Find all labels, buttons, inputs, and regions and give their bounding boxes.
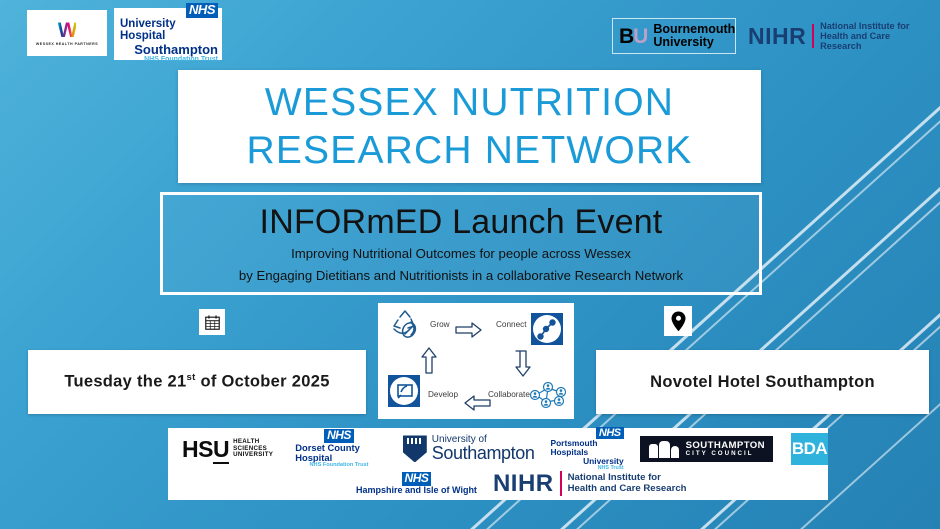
- hsu-wordmark: HEALTH SCIENCES UNIVERSITY: [233, 439, 273, 459]
- event-date-text: Tuesday the 21st of October 2025: [64, 372, 329, 392]
- southampton-shield-icon: [403, 435, 427, 462]
- event-venue-card: Novotel Hotel Southampton: [596, 350, 929, 414]
- logo-southampton-city-council: SOUTHAMPTON CITY COUNCIL: [640, 436, 773, 462]
- uhs-line2: Southampton: [134, 43, 218, 57]
- event-date-card: Tuesday the 21st of October 2025: [28, 350, 366, 414]
- nihr-divider-icon: [812, 24, 814, 48]
- title-line-2: RESEARCH NETWORK: [246, 127, 692, 175]
- map-pin-icon: [664, 306, 692, 336]
- uhs-line3: NHS Foundation Trust: [144, 56, 218, 64]
- nihr-line1: National Institute for: [568, 473, 687, 484]
- cycle-diagram-graphics: [378, 303, 574, 419]
- nhs-badge: NHS: [596, 427, 624, 440]
- event-poster: W WESSEX HEALTH PARTNERS NHS University …: [0, 0, 940, 529]
- nihr-line2: Health and Care Research: [568, 484, 687, 495]
- logo-nhs-hampshire-isle-of-wight: NHS Hampshire and Isle of Wight: [356, 472, 477, 495]
- event-tagline-line2: by Engaging Dietitians and Nutritionists…: [239, 266, 683, 285]
- nihr-subtitle: National Institute for Health and Care R…: [820, 21, 928, 52]
- cycle-label-collaborate: Collaborate: [488, 390, 530, 399]
- whp-caption: WESSEX HEALTH PARTNERS: [36, 42, 98, 46]
- page-title: WESSEX NUTRITION RESEARCH NETWORK: [178, 70, 761, 183]
- nhs-badge: NHS: [324, 429, 354, 443]
- city-crest-icon: [648, 440, 680, 458]
- uos-wordmark: University of Southampton: [432, 435, 535, 462]
- logo-bournemouth-university: BU Bournemouth University: [612, 18, 736, 54]
- bu-line2: University: [653, 36, 735, 49]
- cycle-diagram: Grow Connect Collaborate Develop: [378, 303, 574, 419]
- bda-mark: BDA: [792, 439, 827, 459]
- hsu-line3: UNIVERSITY: [233, 452, 273, 459]
- partner-logo-row-2: NHS Hampshire and Isle of Wight NIHR Nat…: [168, 468, 828, 499]
- logo-nihr-header: NIHR National Institute for Health and C…: [748, 18, 928, 54]
- cycle-label-develop: Develop: [428, 390, 458, 399]
- nihr-divider-icon: [560, 471, 562, 496]
- presentation-screen-icon: [388, 375, 420, 407]
- nihr-wordmark: NIHR: [493, 472, 554, 496]
- logo-nihr-footer: NIHR National Institute for Health and C…: [493, 471, 687, 496]
- event-venue-text: Novotel Hotel Southampton: [650, 373, 875, 392]
- logo-health-sciences-university: HSU HEALTH SCIENCES UNIVERSITY: [182, 438, 273, 461]
- hiow-line1: Hampshire and Isle of Wight: [356, 486, 477, 495]
- date-prefix: Tuesday the 21: [64, 373, 186, 391]
- partner-logo-row-1: HSU HEALTH SCIENCES UNIVERSITY NHS Dorse…: [168, 430, 828, 468]
- calendar-icon: [199, 309, 225, 335]
- bu-wordmark: Bournemouth University: [653, 23, 735, 49]
- logo-university-hospital-southampton: NHS University Hospital Southampton NHS …: [114, 8, 222, 60]
- phu-line1: Portsmouth Hospitals: [550, 439, 623, 457]
- nihr-line1: National Institute for: [820, 21, 928, 31]
- hsu-underlined-u: U: [213, 436, 229, 464]
- nihr-subtitle: National Institute for Health and Care R…: [568, 473, 687, 494]
- people-network-icon: [531, 383, 566, 408]
- date-ordinal: st: [187, 372, 196, 383]
- logo-university-of-southampton: University of Southampton: [403, 435, 535, 462]
- cycle-label-grow: Grow: [430, 320, 450, 329]
- recycle-leaf-icon: [394, 311, 418, 339]
- partner-logo-band: HSU HEALTH SCIENCES UNIVERSITY NHS Dorse…: [168, 428, 828, 500]
- nihr-wordmark: NIHR: [748, 25, 806, 48]
- scc-wordmark: SOUTHAMPTON CITY COUNCIL: [686, 441, 765, 458]
- logo-wessex-health-partners: W WESSEX HEALTH PARTNERS: [27, 10, 107, 56]
- hsu-mark: HSU: [182, 438, 229, 461]
- event-tagline-line1: Improving Nutritional Outcomes for peopl…: [291, 244, 631, 263]
- date-suffix: of October 2025: [196, 373, 330, 391]
- uos-line2: Southampton: [432, 445, 535, 463]
- nihr-line2: Health and Care Research: [820, 31, 928, 52]
- dch-line1: Dorset County Hospital: [295, 443, 383, 463]
- event-name: INFORmED Launch Event: [260, 204, 663, 241]
- scc-line2: CITY COUNCIL: [686, 451, 765, 458]
- nhs-badge: NHS: [402, 472, 432, 486]
- cycle-label-connect: Connect: [496, 320, 527, 329]
- network-nodes-circle-icon: [531, 313, 563, 345]
- logo-bda: BDA: [791, 433, 828, 465]
- logo-dorset-county-hospital: NHS Dorset County Hospital NHS Foundatio…: [295, 429, 383, 468]
- event-headline-box: INFORmED Launch Event Improving Nutritio…: [160, 192, 762, 295]
- bu-mark: BU: [619, 26, 647, 47]
- uhs-line1: University Hospital: [120, 18, 218, 42]
- bu-letter-u: U: [633, 25, 647, 48]
- whp-w-mark: W: [58, 20, 77, 41]
- title-line-1: WESSEX NUTRITION: [265, 79, 674, 127]
- logo-portsmouth-hospitals-university: NHS Portsmouth Hospitals University NHS …: [550, 427, 623, 472]
- nhs-badge: NHS: [186, 3, 218, 18]
- bu-letter-b: B: [619, 25, 633, 48]
